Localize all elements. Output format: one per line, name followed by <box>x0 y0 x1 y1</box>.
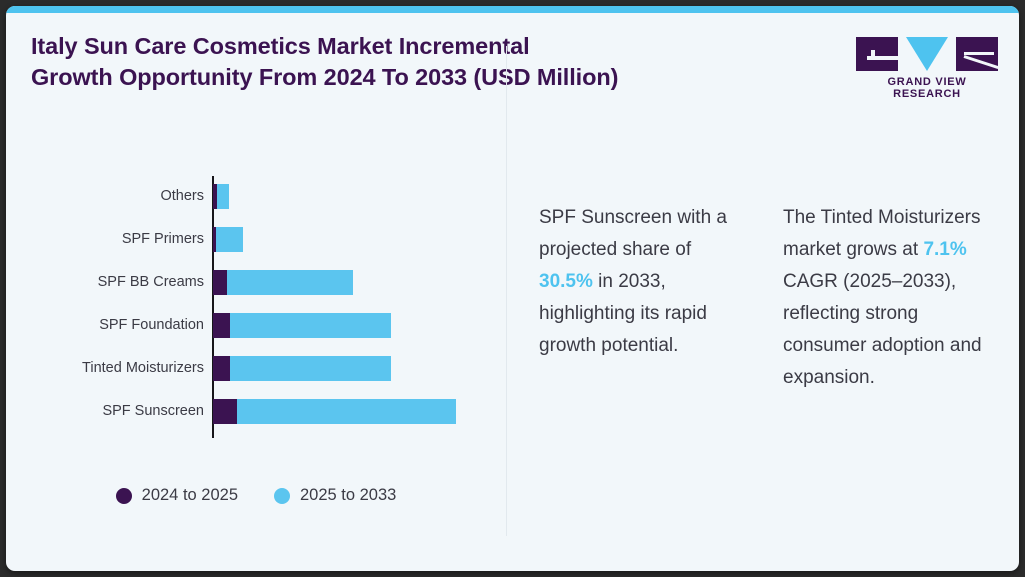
page-title-line-1: Italy Sun Care Cosmetics Market Incremen… <box>31 31 751 62</box>
insight-2-part-2: CAGR (2025–2033), reflecting strong cons… <box>783 271 982 388</box>
legend-label-1: 2025 to 2033 <box>300 486 396 505</box>
bar-category-label-0: Others <box>6 188 204 204</box>
table-row: SPF Primers <box>6 219 506 259</box>
legend-swatch-dark-icon <box>116 488 132 504</box>
incremental-growth-bar-chart: Others SPF Primers SPF BB Creams <box>6 156 506 536</box>
bar-segment-2024-2025-2 <box>213 270 227 295</box>
table-row: SPF Foundation <box>6 305 506 345</box>
infographic-card: Italy Sun Care Cosmetics Market Incremen… <box>6 6 1019 571</box>
insight-text-tinted-moisturizers: The Tinted Moisturizers market grows at … <box>783 202 988 394</box>
chart-legend: 2024 to 2025 2025 to 2033 <box>6 486 506 505</box>
logo-letter-v-triangle-icon <box>906 37 948 71</box>
insight-1-part-1: SPF Sunscreen with a projected share of <box>539 207 727 260</box>
bar-segment-2025-2033-2 <box>227 270 353 295</box>
legend-swatch-light-icon <box>274 488 290 504</box>
bar-track-2 <box>213 270 353 295</box>
bar-track-5 <box>213 399 456 424</box>
bar-segment-2024-2025-4 <box>213 356 230 381</box>
legend-item-2024-2025[interactable]: 2024 to 2025 <box>116 486 238 505</box>
bar-category-label-2: SPF BB Creams <box>6 274 204 290</box>
insight-text-spf-sunscreen: SPF Sunscreen with a projected share of … <box>539 202 744 362</box>
legend-item-2025-2033[interactable]: 2025 to 2033 <box>274 486 396 505</box>
bar-category-label-4: Tinted Moisturizers <box>6 360 204 376</box>
page-title: Italy Sun Care Cosmetics Market Incremen… <box>31 31 751 93</box>
logo-letter-g-notch <box>871 50 875 60</box>
logo-letter-r-icon <box>956 37 998 71</box>
header: Italy Sun Care Cosmetics Market Incremen… <box>6 13 1019 105</box>
top-accent-bar <box>6 6 1019 13</box>
bar-track-3 <box>213 313 391 338</box>
insight-2-highlight: 7.1% <box>923 239 966 260</box>
logo-marks <box>852 37 1002 71</box>
bar-segment-2024-2025-5 <box>213 399 237 424</box>
legend-label-0: 2024 to 2025 <box>142 486 238 505</box>
bar-track-1 <box>213 227 243 252</box>
bar-segment-2025-2033-0 <box>217 184 229 209</box>
bar-category-label-3: SPF Foundation <box>6 317 204 333</box>
bar-track-0 <box>213 184 229 209</box>
column-divider <box>506 46 507 536</box>
bar-category-label-5: SPF Sunscreen <box>6 403 204 419</box>
bar-category-label-1: SPF Primers <box>6 231 204 247</box>
table-row: SPF Sunscreen <box>6 391 506 431</box>
grand-view-research-logo: GRAND VIEW RESEARCH <box>852 37 1002 91</box>
table-row: Tinted Moisturizers <box>6 348 506 388</box>
page-title-line-2: Growth Opportunity From 2024 To 2033 (US… <box>31 62 751 93</box>
bar-segment-2025-2033-1 <box>216 227 243 252</box>
table-row: SPF BB Creams <box>6 262 506 302</box>
chart-plot-area: Others SPF Primers SPF BB Creams <box>6 176 506 446</box>
bar-track-4 <box>213 356 391 381</box>
table-row: Others <box>6 176 506 216</box>
bar-segment-2025-2033-3 <box>230 313 391 338</box>
logo-wordmark: GRAND VIEW RESEARCH <box>852 76 1002 100</box>
insight-1-highlight: 30.5% <box>539 271 593 292</box>
logo-letter-g-icon <box>856 37 898 71</box>
bar-segment-2025-2033-5 <box>237 399 456 424</box>
bar-segment-2024-2025-3 <box>213 313 230 338</box>
bar-segment-2025-2033-4 <box>230 356 391 381</box>
